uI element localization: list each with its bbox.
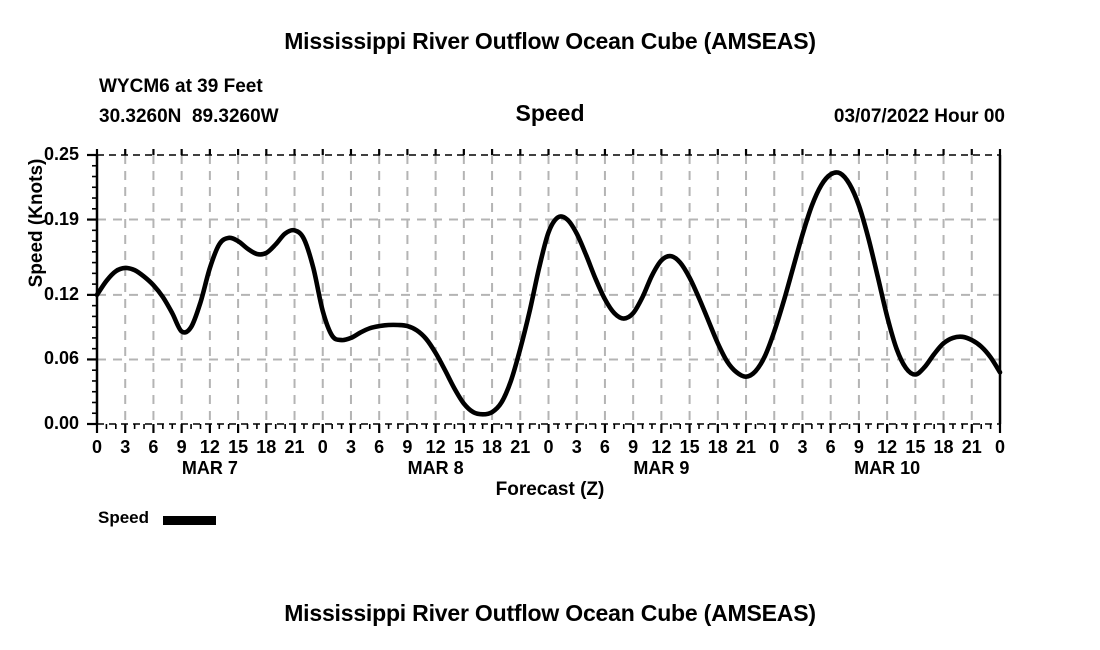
day-label: MAR 7 [150, 458, 270, 479]
day-label: MAR 10 [827, 458, 947, 479]
x-tick-label: 0 [983, 437, 1017, 458]
y-tick-label: 0.00 [19, 413, 79, 434]
y-tick-label: 0.19 [19, 209, 79, 230]
y-tick-label: 0.25 [19, 144, 79, 165]
y-tick-label: 0.06 [19, 348, 79, 369]
day-label: MAR 8 [376, 458, 496, 479]
day-label: MAR 9 [601, 458, 721, 479]
plot-area [0, 0, 1100, 650]
page-title-bottom: Mississippi River Outflow Ocean Cube (AM… [0, 600, 1100, 627]
legend-label-speed: Speed [98, 508, 149, 528]
x-gridlines [125, 155, 972, 424]
y-axis-ticks [87, 155, 97, 424]
legend-swatch-speed [163, 516, 216, 525]
chart-page: Mississippi River Outflow Ocean Cube (AM… [0, 0, 1100, 650]
y-tick-label: 0.12 [19, 284, 79, 305]
